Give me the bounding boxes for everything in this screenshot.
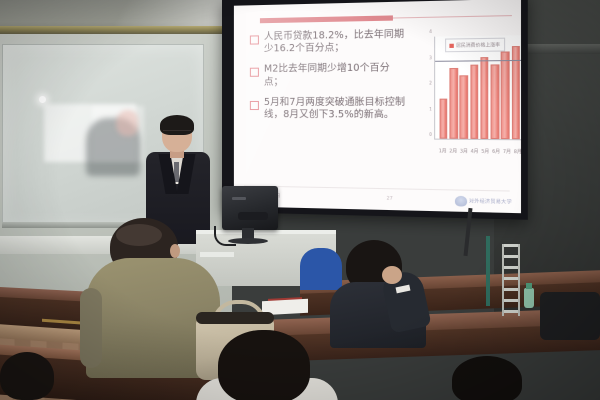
audience-person-left-edge bbox=[0, 352, 54, 400]
bullet-text: 5月和7月两度突破通胀目标控制线，8月又创下3.5%的新高。 bbox=[264, 96, 408, 122]
chart-bar-3月 bbox=[460, 75, 468, 139]
chart-x-tick: 7月 bbox=[503, 149, 511, 155]
chart-x-tick: 8月 bbox=[514, 149, 521, 156]
slide-bullet-list: 人民币贷款18.2%，比去年同期少16.2个百分点； M2比去年同期少增10个百… bbox=[250, 29, 408, 131]
chart-bar-6月 bbox=[491, 65, 499, 140]
audience-man-hair-highlight bbox=[116, 224, 162, 246]
step-ladder bbox=[502, 244, 520, 316]
list-item: 5月和7月两度突破通胀目标控制线，8月又创下3.5%的新高。 bbox=[250, 96, 408, 122]
monitor-vent bbox=[238, 212, 268, 220]
chart-y-tick: 1 bbox=[429, 106, 432, 111]
logo-mark-icon bbox=[455, 196, 467, 207]
bottle-cap bbox=[526, 283, 532, 289]
cpi-bar-chart: 01234 居民消费价格上涨率 1月2月3月4月5月6月7月8月 bbox=[423, 31, 521, 158]
university-logo: 对外经济贸易大学 bbox=[455, 196, 512, 208]
water-bottle bbox=[524, 288, 534, 308]
whiteboard-hand-shadow bbox=[116, 110, 138, 136]
audience-person-right-edge bbox=[452, 356, 522, 400]
slide-footer-divider bbox=[244, 185, 510, 191]
square-bullet-icon bbox=[250, 35, 259, 44]
chart-bar-4月 bbox=[470, 65, 478, 139]
chart-x-axis: 1月2月3月4月5月6月7月8月 bbox=[437, 148, 521, 155]
chart-y-tick: 0 bbox=[429, 132, 432, 137]
monitor-cable bbox=[214, 226, 236, 246]
dark-chair bbox=[540, 292, 600, 340]
bullet-text: 人民币贷款18.2%，比去年同期少16.2个百分点； bbox=[264, 29, 408, 56]
chart-y-tick: 3 bbox=[429, 55, 432, 60]
green-pole bbox=[486, 236, 490, 306]
bullet-text: M2比去年同期少增10个百分点； bbox=[264, 63, 408, 89]
chart-y-axis: 01234 bbox=[423, 37, 433, 140]
list-item: 人民币贷款18.2%，比去年同期少16.2个百分点； bbox=[250, 29, 408, 56]
whiteboard-light-spot bbox=[39, 96, 46, 103]
papers-on-podium bbox=[200, 252, 234, 257]
chart-x-tick: 1月 bbox=[439, 148, 447, 154]
desktop-monitor[interactable] bbox=[222, 186, 278, 230]
audience-man-arm bbox=[80, 288, 102, 368]
chart-bar-1月 bbox=[439, 98, 447, 138]
chart-y-tick: 4 bbox=[429, 29, 432, 34]
glasses-icon bbox=[163, 130, 191, 136]
audience-person-suit-hand bbox=[382, 266, 402, 284]
square-bullet-icon bbox=[250, 101, 259, 110]
audience-woman-head bbox=[218, 330, 310, 400]
slide-accent-line bbox=[393, 15, 512, 18]
chart-y-tick: 2 bbox=[429, 80, 432, 85]
monitor-brand-logo bbox=[232, 197, 246, 200]
legend-label: 居民消费价格上涨率 bbox=[456, 41, 500, 48]
chart-x-tick: 6月 bbox=[492, 149, 500, 155]
chart-bar-5月 bbox=[480, 57, 488, 139]
chart-bar-2月 bbox=[450, 67, 458, 138]
presentation-slide: 人民币贷款18.2%，比去年同期少16.2个百分点； M2比去年同期少增10个百… bbox=[234, 0, 521, 213]
list-item: M2比去年同期少增10个百分点； bbox=[250, 63, 408, 89]
chart-legend: 居民消费价格上涨率 bbox=[445, 38, 505, 53]
chart-x-tick: 3月 bbox=[460, 148, 468, 154]
audience-person-blue-jacket bbox=[300, 248, 342, 290]
legend-swatch-icon bbox=[449, 43, 453, 47]
chart-x-tick: 4月 bbox=[471, 148, 479, 154]
chart-x-tick: 2月 bbox=[449, 148, 457, 154]
audience-man-ear bbox=[170, 244, 180, 258]
handbag-opening bbox=[196, 312, 274, 324]
logo-text: 对外经济贸易大学 bbox=[469, 198, 512, 205]
chart-x-tick: 5月 bbox=[481, 148, 489, 154]
lecture-hall-photo: 人民币贷款18.2%，比去年同期少16.2个百分点； M2比去年同期少增10个百… bbox=[0, 0, 600, 400]
square-bullet-icon bbox=[250, 68, 259, 77]
slide-page-number: 27 bbox=[387, 196, 393, 201]
slide-surface: 人民币贷款18.2%，比去年同期少16.2个百分点； M2比去年同期少增10个百… bbox=[234, 0, 521, 213]
slide-accent-bar bbox=[260, 15, 393, 23]
chart-bar-7月 bbox=[501, 51, 509, 139]
